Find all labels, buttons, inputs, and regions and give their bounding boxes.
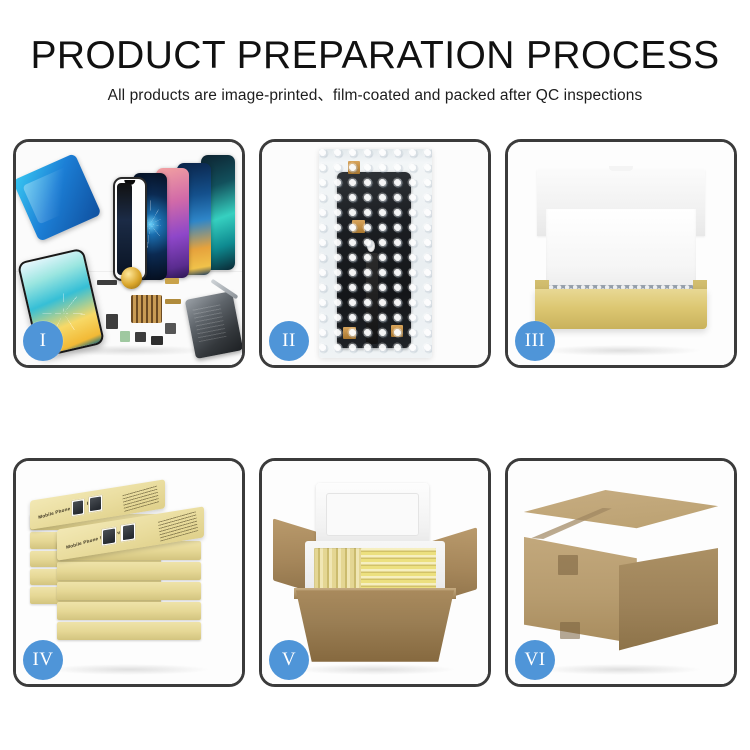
white-foam-sheet	[546, 209, 695, 289]
small-part	[165, 323, 176, 334]
stacked-box	[57, 562, 200, 580]
stacked-box	[57, 622, 200, 640]
foam-lid	[316, 483, 429, 545]
small-part	[120, 331, 130, 342]
box-stack-group: Mobile Phone Spare Parts Mobile Phone Sp…	[30, 481, 229, 664]
drop-shadow	[294, 664, 457, 675]
process-steps-grid: I	[13, 139, 737, 687]
box-spec-lines	[158, 510, 198, 541]
bubble-wrap-bag	[319, 149, 432, 359]
phone-glass-panel	[113, 177, 147, 282]
step-panel-2: II	[259, 139, 491, 368]
step-panel-6: VI	[505, 458, 737, 687]
step-badge-2: II	[269, 321, 309, 361]
small-part	[135, 332, 146, 341]
step-panel-4: Mobile Phone Spare Parts Mobile Phone Sp…	[13, 458, 245, 687]
box-window-right	[88, 494, 103, 513]
box-window-right	[121, 522, 137, 543]
stacked-box	[57, 582, 200, 600]
step-badge-4: IV	[23, 640, 63, 680]
small-part	[97, 280, 117, 285]
vibration-motor-part	[121, 267, 142, 289]
step-panel-3: III	[505, 139, 737, 368]
step-badge-6: VI	[515, 640, 555, 680]
step-badge-3: III	[515, 321, 555, 361]
box-window-left	[70, 498, 85, 517]
small-part	[165, 299, 182, 305]
step-badge-5: V	[269, 640, 309, 680]
page-subtitle: All products are image-printed、film-coat…	[0, 85, 750, 107]
step-panel-5: V	[259, 458, 491, 687]
phone-notch-icon	[124, 180, 135, 185]
connector-grid-part	[131, 295, 162, 323]
drop-shadow	[48, 664, 211, 675]
step-badge-1: I	[23, 321, 63, 361]
header: PRODUCT PREPARATION PROCESS All products…	[0, 34, 750, 107]
phone-fan-group	[106, 155, 233, 280]
carton-tape-mark	[558, 555, 578, 575]
page-title: PRODUCT PREPARATION PROCESS	[0, 34, 750, 78]
small-part	[106, 314, 119, 329]
drop-shadow	[540, 345, 703, 356]
inner-boxes-row	[361, 548, 436, 590]
stacked-box	[57, 602, 200, 620]
small-part	[165, 278, 179, 284]
product-preparation-infographic: PRODUCT PREPARATION PROCESS All products…	[0, 0, 750, 750]
box-spec-lines	[122, 483, 159, 512]
drop-shadow	[48, 345, 211, 356]
bubble-texture	[319, 149, 432, 359]
step-panel-1: I	[13, 139, 245, 368]
small-part	[151, 336, 164, 344]
box-window-left	[102, 526, 118, 547]
kraft-box-front	[535, 289, 707, 329]
drop-shadow	[540, 664, 703, 675]
carton-tape-mark	[560, 622, 580, 640]
shipping-carton-body	[296, 590, 454, 661]
